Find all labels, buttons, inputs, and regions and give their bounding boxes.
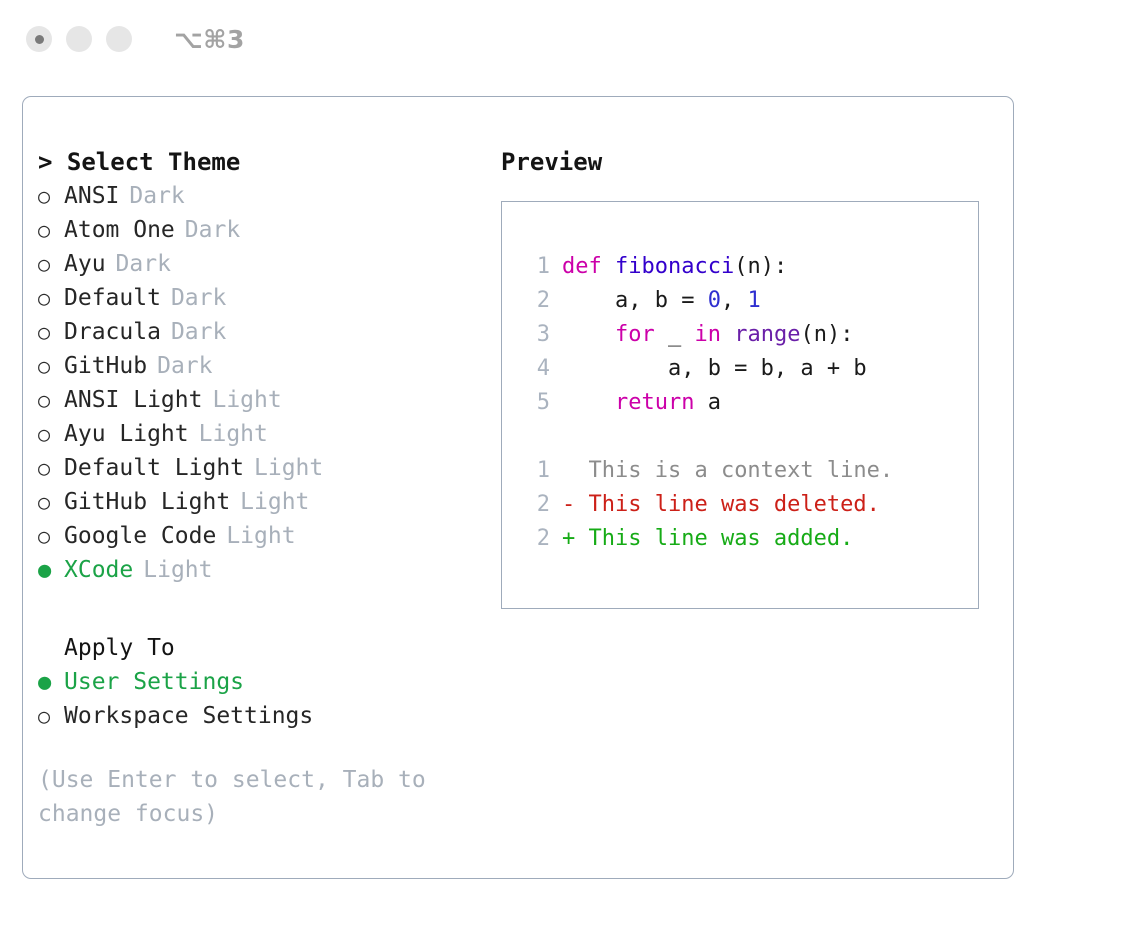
code-diff-gap: [502, 420, 978, 454]
theme-option-kind: Dark: [171, 315, 226, 349]
code-token-txt: [562, 322, 615, 347]
code-line: 4 a, b = b, a + b: [502, 352, 978, 386]
keyboard-hint-text: (Use Enter to select, Tab to change focu…: [38, 763, 438, 831]
theme-option-label: GitHub Light: [64, 485, 230, 519]
app-window: ⌥⌘3 > Select Theme ○ANSIDark○Atom OneDar…: [0, 0, 1140, 934]
diff-line-content: This line was added.: [575, 522, 853, 556]
title-bar: ⌥⌘3: [0, 0, 1140, 78]
diff-sign: +: [562, 522, 575, 556]
code-line-content: for _ in range(n):: [562, 318, 853, 352]
diff-line: 2- This line was deleted.: [502, 488, 978, 522]
code-line: 1def fibonacci(n):: [502, 250, 978, 284]
code-token-kw: def: [562, 254, 615, 279]
theme-list: ○ANSIDark○Atom OneDark○AyuDark○DefaultDa…: [38, 179, 488, 587]
radio-unselected-icon: ○: [38, 179, 64, 213]
code-token-txt: _: [655, 322, 695, 347]
radio-unselected-icon: ○: [38, 417, 64, 451]
radio-selected-icon: ●: [38, 554, 64, 588]
theme-option-kind: Dark: [171, 281, 226, 315]
traffic-light-inactive-2-icon[interactable]: [106, 26, 132, 52]
code-line-number: 3: [520, 318, 550, 352]
diff-sample: 1 This is a context line.2- This line wa…: [502, 454, 978, 556]
code-line-number: 4: [520, 352, 550, 386]
code-token-kw: for: [615, 322, 655, 347]
theme-option-default-light[interactable]: ○Default LightLight: [38, 451, 488, 485]
theme-option-atom-one[interactable]: ○Atom OneDark: [38, 213, 488, 247]
apply-to-option-user-settings[interactable]: ●User Settings: [38, 665, 488, 699]
theme-option-ayu[interactable]: ○AyuDark: [38, 247, 488, 281]
preview-column: Preview 1def fibonacci(n):2 a, b = 0, 13…: [501, 145, 1001, 609]
radio-unselected-icon: ○: [38, 383, 64, 417]
theme-option-dracula[interactable]: ○DraculaDark: [38, 315, 488, 349]
section-spacer: [38, 587, 488, 631]
diff-line: 2+ This line was added.: [502, 522, 978, 556]
radio-selected-icon: ●: [38, 666, 64, 700]
theme-option-kind: Light: [226, 519, 295, 553]
theme-option-label: Default: [64, 281, 161, 315]
code-token-txt: a: [694, 390, 721, 415]
radio-unselected-icon: ○: [38, 247, 64, 281]
code-line: 3 for _ in range(n):: [502, 318, 978, 352]
theme-option-label: XCode: [64, 553, 133, 587]
diff-sign: [562, 454, 575, 488]
theme-option-kind: Light: [254, 451, 323, 485]
theme-option-label: Ayu Light: [64, 417, 189, 451]
code-token-txt: a, b =: [562, 288, 708, 313]
diff-line-content: This line was deleted.: [575, 488, 880, 522]
theme-option-label: Google Code: [64, 519, 216, 553]
diff-line-number: 2: [520, 488, 550, 522]
apply-to-list: ●User Settings○Workspace Settings: [38, 665, 488, 733]
code-line-content: def fibonacci(n):: [562, 250, 787, 284]
theme-option-github[interactable]: ○GitHubDark: [38, 349, 488, 383]
radio-unselected-icon: ○: [38, 349, 64, 383]
code-line-number: 1: [520, 250, 550, 284]
traffic-light-active-icon[interactable]: [26, 26, 52, 52]
code-token-cls: range: [734, 322, 800, 347]
traffic-light-inactive-1-icon[interactable]: [66, 26, 92, 52]
theme-option-kind: Light: [199, 417, 268, 451]
theme-option-ayu-light[interactable]: ○Ayu LightLight: [38, 417, 488, 451]
code-sample: 1def fibonacci(n):2 a, b = 0, 13 for _ i…: [502, 250, 978, 420]
theme-option-kind: Dark: [116, 247, 171, 281]
apply-to-option-workspace-settings[interactable]: ○Workspace Settings: [38, 699, 488, 733]
code-token-num: 1: [747, 288, 760, 313]
theme-option-kind: Dark: [185, 213, 240, 247]
diff-line-number: 2: [520, 522, 550, 556]
theme-option-kind: Dark: [129, 179, 184, 213]
code-token-txt: a, b = b, a + b: [562, 356, 867, 381]
theme-option-label: GitHub: [64, 349, 147, 383]
radio-unselected-icon: ○: [38, 519, 64, 553]
theme-option-kind: Light: [240, 485, 309, 519]
radio-unselected-icon: ○: [38, 485, 64, 519]
theme-option-kind: Dark: [157, 349, 212, 383]
code-token-num: 0: [708, 288, 721, 313]
theme-option-default[interactable]: ○DefaultDark: [38, 281, 488, 315]
code-line-content: return a: [562, 386, 721, 420]
radio-unselected-icon: ○: [38, 451, 64, 485]
main-panel: > Select Theme ○ANSIDark○Atom OneDark○Ay…: [22, 96, 1014, 879]
radio-unselected-icon: ○: [38, 213, 64, 247]
select-theme-title: > Select Theme: [38, 145, 488, 179]
keyboard-shortcut-label: ⌥⌘3: [174, 25, 245, 54]
theme-option-ansi[interactable]: ○ANSIDark: [38, 179, 488, 213]
code-token-txt: [721, 322, 734, 347]
diff-sign: -: [562, 488, 575, 522]
theme-option-label: Dracula: [64, 315, 161, 349]
theme-option-label: Default Light: [64, 451, 244, 485]
theme-option-xcode[interactable]: ●XCodeLight: [38, 553, 488, 587]
theme-selector-column: > Select Theme ○ANSIDark○Atom OneDark○Ay…: [38, 145, 488, 831]
diff-line-content: This is a context line.: [575, 454, 893, 488]
code-line: 5 return a: [502, 386, 978, 420]
preview-title: Preview: [501, 145, 1001, 179]
theme-option-label: Ayu: [64, 247, 106, 281]
apply-to-option-label: User Settings: [64, 665, 244, 699]
code-token-kw: in: [694, 322, 721, 347]
preview-box: 1def fibonacci(n):2 a, b = 0, 13 for _ i…: [501, 201, 979, 609]
radio-unselected-icon: ○: [38, 315, 64, 349]
theme-option-kind: Light: [143, 553, 212, 587]
code-line: 2 a, b = 0, 1: [502, 284, 978, 318]
theme-option-kind: Light: [212, 383, 281, 417]
theme-option-label: ANSI Light: [64, 383, 202, 417]
traffic-light-pip-icon: [35, 35, 44, 44]
code-token-txt: [562, 390, 615, 415]
radio-unselected-icon: ○: [38, 281, 64, 315]
code-line-number: 2: [520, 284, 550, 318]
code-token-txt: (n):: [734, 254, 787, 279]
code-line-content: a, b = b, a + b: [562, 352, 867, 386]
diff-line: 1 This is a context line.: [502, 454, 978, 488]
code-token-txt: ,: [721, 288, 748, 313]
code-line-number: 5: [520, 386, 550, 420]
diff-line-number: 1: [520, 454, 550, 488]
theme-option-ansi-light[interactable]: ○ANSI LightLight: [38, 383, 488, 417]
theme-option-label: ANSI: [64, 179, 119, 213]
theme-option-label: Atom One: [64, 213, 175, 247]
theme-option-github-light[interactable]: ○GitHub LightLight: [38, 485, 488, 519]
radio-unselected-icon: ○: [38, 699, 64, 733]
apply-to-title: Apply To: [38, 631, 488, 665]
code-token-fn: fibonacci: [615, 254, 734, 279]
theme-option-google-code[interactable]: ○Google CodeLight: [38, 519, 488, 553]
code-token-txt: (n):: [800, 322, 853, 347]
code-line-content: a, b = 0, 1: [562, 284, 761, 318]
code-token-kw: return: [615, 390, 694, 415]
apply-to-option-label: Workspace Settings: [64, 699, 313, 733]
